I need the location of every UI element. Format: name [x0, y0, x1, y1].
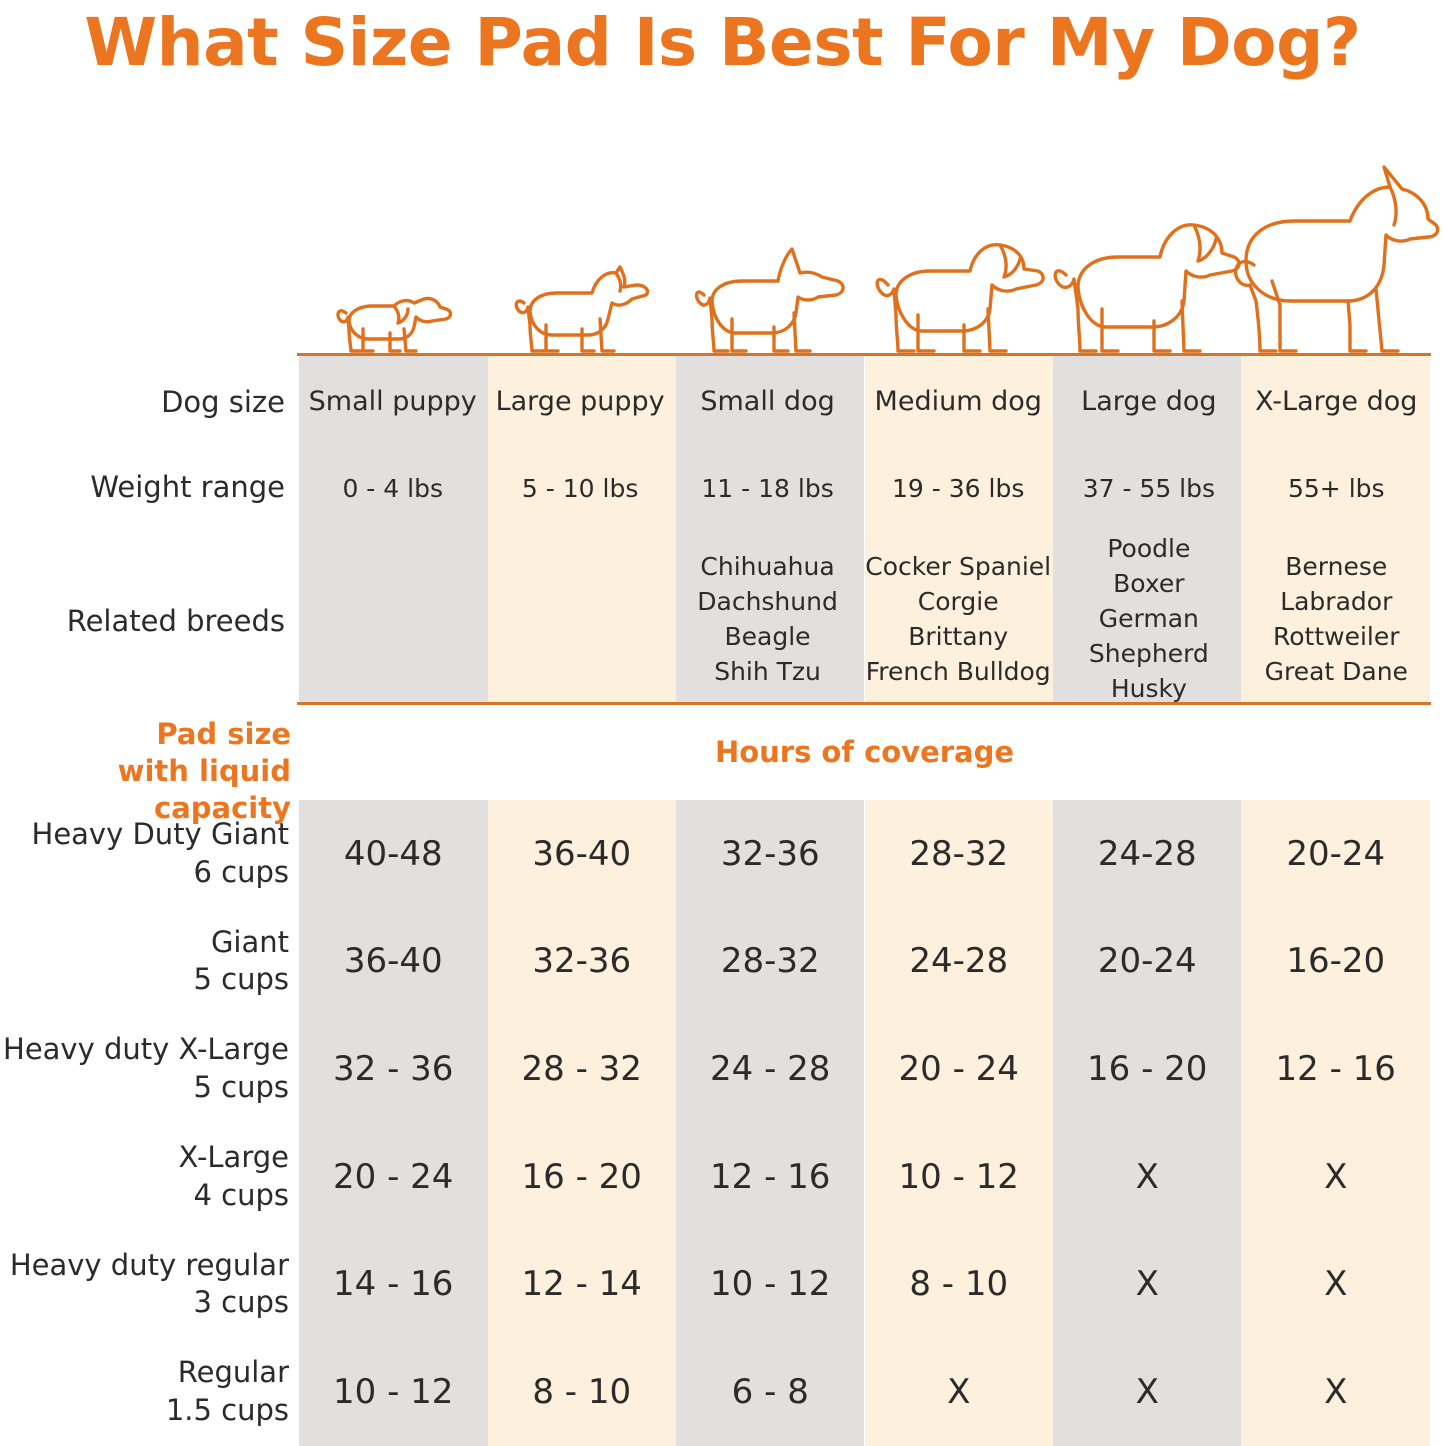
- pad-capacity: 5 cups: [193, 1069, 289, 1107]
- hours-cell: 40-48: [299, 800, 488, 908]
- small-dog-icon: [676, 150, 865, 355]
- dog-column-small-dog: Small dog 11 - 18 lbs ChihuahuaDachshund…: [674, 356, 861, 714]
- pad-capacity: 5 cups: [193, 961, 289, 999]
- breed-line: Great Dane: [1247, 654, 1426, 689]
- weight-range-value: 19 - 36 lbs: [861, 446, 1055, 531]
- breeds-value: PoodleBoxerGermanShepherdHusky: [1055, 531, 1242, 714]
- dog-size-value: Small puppy: [299, 356, 486, 446]
- hours-cell: 20-24: [1242, 800, 1431, 908]
- hours-cell: 8 - 10: [488, 1338, 677, 1446]
- hours-cell: 28-32: [865, 800, 1054, 908]
- breed-line: Cocker Spaniel: [865, 549, 1051, 584]
- hours-cell: X: [1242, 1338, 1431, 1446]
- page-title: What Size Pad Is Best For My Dog?: [0, 4, 1445, 81]
- breed-line: Shih Tzu: [678, 654, 857, 689]
- hours-cell: 32-36: [488, 908, 677, 1016]
- dog-column-x-large-dog: X-Large dog 55+ lbs BerneseLabradorRottw…: [1243, 356, 1430, 714]
- divider-rule-middle: [297, 702, 1431, 705]
- pad-row-label-giant: Giant 5 cups: [0, 908, 291, 1016]
- dog-size-value: Medium dog: [861, 356, 1055, 446]
- row-label-dog-size: Dog size: [161, 385, 285, 419]
- hours-cell: X: [1053, 1231, 1242, 1339]
- pad-name: Heavy duty regular: [10, 1247, 289, 1285]
- breed-line: Labrador: [1247, 584, 1426, 619]
- pad-capacity: 3 cups: [193, 1284, 289, 1322]
- dog-size-value: X-Large dog: [1243, 356, 1430, 446]
- pad-size-heading-line1: Pad size: [0, 716, 291, 753]
- breed-line: French Bulldog: [865, 654, 1051, 689]
- hours-cell: 28-32: [676, 908, 865, 1016]
- weight-range-value: 55+ lbs: [1243, 446, 1430, 531]
- pad-capacity: 1.5 cups: [166, 1392, 289, 1430]
- hours-cell: 8 - 10: [865, 1231, 1054, 1339]
- dog-column-large-dog: Large dog 37 - 55 lbs PoodleBoxerGermanS…: [1055, 356, 1242, 714]
- hours-cell: 12 - 16: [676, 1123, 865, 1231]
- hours-cell: 14 - 16: [299, 1231, 488, 1339]
- pad-row-label-heavy-duty-x-large: Heavy duty X-Large 5 cups: [0, 1015, 291, 1123]
- breed-line: Rottweiler: [1247, 619, 1426, 654]
- medium-dog-icon: [865, 150, 1054, 355]
- hours-cell: 24 - 28: [676, 1015, 865, 1123]
- breed-line: Bernese: [1247, 549, 1426, 584]
- dog-size-value: Large puppy: [486, 356, 673, 446]
- weight-range-value: 37 - 55 lbs: [1055, 446, 1242, 531]
- dog-size-value: Large dog: [1055, 356, 1242, 446]
- pad-name: Heavy duty X-Large: [3, 1031, 289, 1069]
- hours-cell: 32-36: [676, 800, 865, 908]
- hours-cell: 20 - 24: [865, 1015, 1054, 1123]
- row-label-weight-range: Weight range: [90, 470, 285, 504]
- pad-row-labels: Heavy Duty Giant 6 cups Giant 5 cups Hea…: [0, 800, 291, 1446]
- hours-cell: 20-24: [1053, 908, 1242, 1016]
- hours-cell: 10 - 12: [676, 1231, 865, 1339]
- breeds-value: [299, 531, 486, 714]
- dog-column-large-puppy: Large puppy 5 - 10 lbs: [486, 356, 673, 714]
- breed-line: Dachshund: [678, 584, 857, 619]
- weight-range-value: 0 - 4 lbs: [299, 446, 486, 531]
- breed-line: Boxer: [1059, 566, 1238, 601]
- pad-size-matrix: 40-4836-4032-3628-3224-2820-2436-4032-36…: [299, 800, 1430, 1446]
- large-puppy-dog-icon: [488, 150, 677, 355]
- hours-cell: 16-20: [1242, 908, 1431, 1016]
- breed-line: Husky: [1059, 671, 1238, 706]
- small-puppy-dog-icon: [299, 150, 488, 355]
- hours-cell: X: [865, 1338, 1054, 1446]
- pad-capacity: 6 cups: [193, 854, 289, 892]
- dog-column-medium-dog: Medium dog 19 - 36 lbs Cocker SpanielCor…: [861, 356, 1055, 714]
- breed-line: Shepherd: [1059, 636, 1238, 671]
- pad-name: Giant: [211, 924, 289, 962]
- pad-capacity: 4 cups: [193, 1177, 289, 1215]
- hours-cell: 20 - 24: [299, 1123, 488, 1231]
- hours-cell: 36-40: [299, 908, 488, 1016]
- weight-range-value: 11 - 18 lbs: [674, 446, 861, 531]
- hours-cell: X: [1242, 1231, 1431, 1339]
- breed-line: German: [1059, 601, 1238, 636]
- hours-cell: 32 - 36: [299, 1015, 488, 1123]
- dog-info-table: Small puppy 0 - 4 lbs Large puppy 5 - 10…: [299, 356, 1430, 702]
- pad-row-label-regular: Regular 1.5 cups: [0, 1338, 291, 1446]
- hours-cell: X: [1053, 1123, 1242, 1231]
- pad-row-label-x-large: X-Large 4 cups: [0, 1123, 291, 1231]
- breed-line: Chihuahua: [678, 549, 857, 584]
- pad-row-label-heavy-duty-regular: Heavy duty regular 3 cups: [0, 1231, 291, 1339]
- dog-size-value: Small dog: [674, 356, 861, 446]
- dog-silhouette-strip: [299, 150, 1430, 355]
- hours-cell: 24-28: [1053, 800, 1242, 908]
- hours-cell: X: [1053, 1338, 1242, 1446]
- breeds-value: [486, 531, 673, 714]
- breed-line: Beagle: [678, 619, 857, 654]
- hours-cell: X: [1242, 1123, 1431, 1231]
- large-dog-icon: [1053, 150, 1242, 355]
- dog-column-small-puppy: Small puppy 0 - 4 lbs: [299, 356, 486, 714]
- pad-name: X-Large: [179, 1139, 289, 1177]
- infographic-page: What Size Pad Is Best For My Dog?: [0, 0, 1445, 1446]
- breed-line: Corgie: [865, 584, 1051, 619]
- hours-cell: 28 - 32: [488, 1015, 677, 1123]
- breeds-value: ChihuahuaDachshundBeagleShih Tzu: [674, 531, 861, 714]
- weight-range-value: 5 - 10 lbs: [486, 446, 673, 531]
- hours-cell: 12 - 14: [488, 1231, 677, 1339]
- hours-cell: 24-28: [865, 908, 1054, 1016]
- breed-line: Brittany: [865, 619, 1051, 654]
- breeds-value: BerneseLabradorRottweilerGreat Dane: [1243, 531, 1430, 714]
- breeds-value: Cocker SpanielCorgieBrittanyFrench Bulld…: [861, 531, 1055, 714]
- hours-of-coverage-heading: Hours of coverage: [299, 735, 1430, 769]
- pad-row-label-heavy-duty-giant: Heavy Duty Giant 6 cups: [0, 800, 291, 908]
- x-large-dog-icon: [1242, 150, 1431, 355]
- hours-cell: 16 - 20: [1053, 1015, 1242, 1123]
- hours-cell: 36-40: [488, 800, 677, 908]
- hours-cell: 10 - 12: [299, 1338, 488, 1446]
- hours-cell: 10 - 12: [865, 1123, 1054, 1231]
- pad-name: Heavy Duty Giant: [32, 816, 289, 854]
- hours-cell: 6 - 8: [676, 1338, 865, 1446]
- breed-line: Poodle: [1059, 531, 1238, 566]
- pad-name: Regular: [178, 1354, 289, 1392]
- hours-cell: 16 - 20: [488, 1123, 677, 1231]
- row-label-related-breeds: Related breeds: [67, 604, 285, 638]
- hours-cell: 12 - 16: [1242, 1015, 1431, 1123]
